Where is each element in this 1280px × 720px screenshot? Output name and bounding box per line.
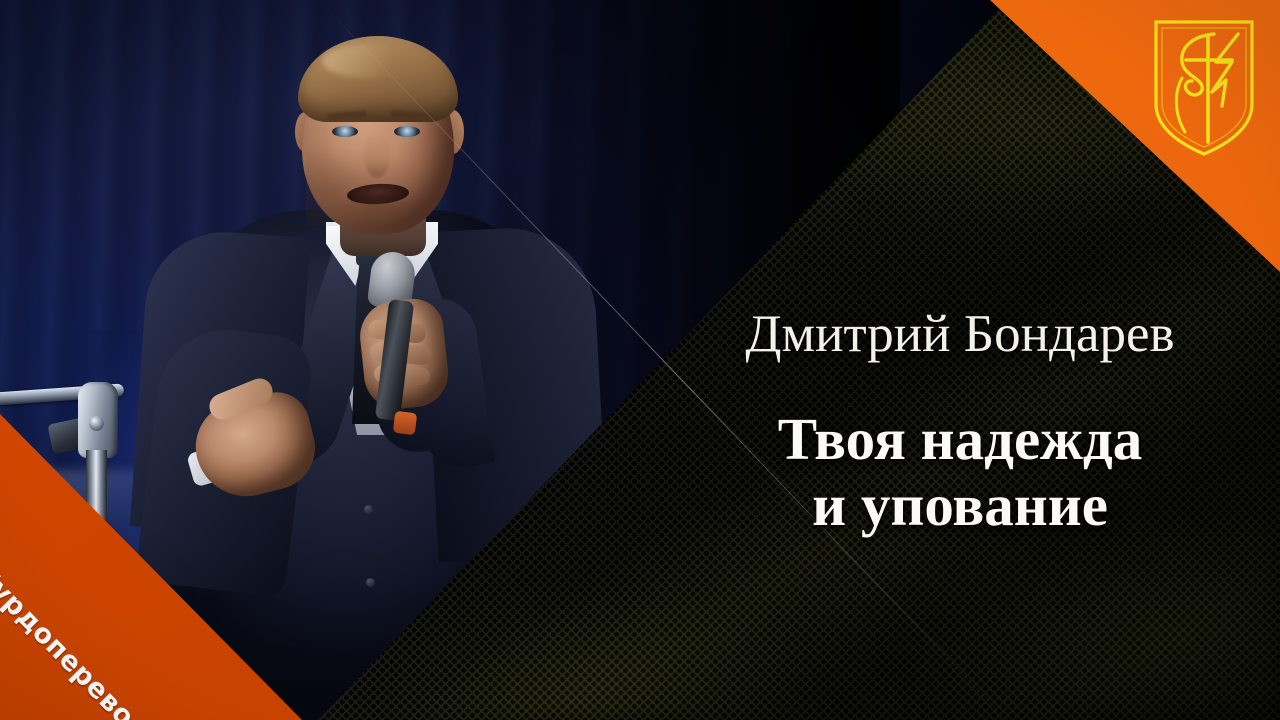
sermon-title-line-2: и упование [660,472,1260,538]
sermon-title: Твоя надежда и упование [660,406,1260,538]
shield-cross-logo [1152,18,1256,158]
sermon-title-line-1: Твоя надежда [778,406,1143,472]
video-thumbnail: Сурдоперевод проповеди Дмитрий Бондарев … [0,0,1280,720]
speaker-name: Дмитрий Бондарев [660,306,1260,363]
